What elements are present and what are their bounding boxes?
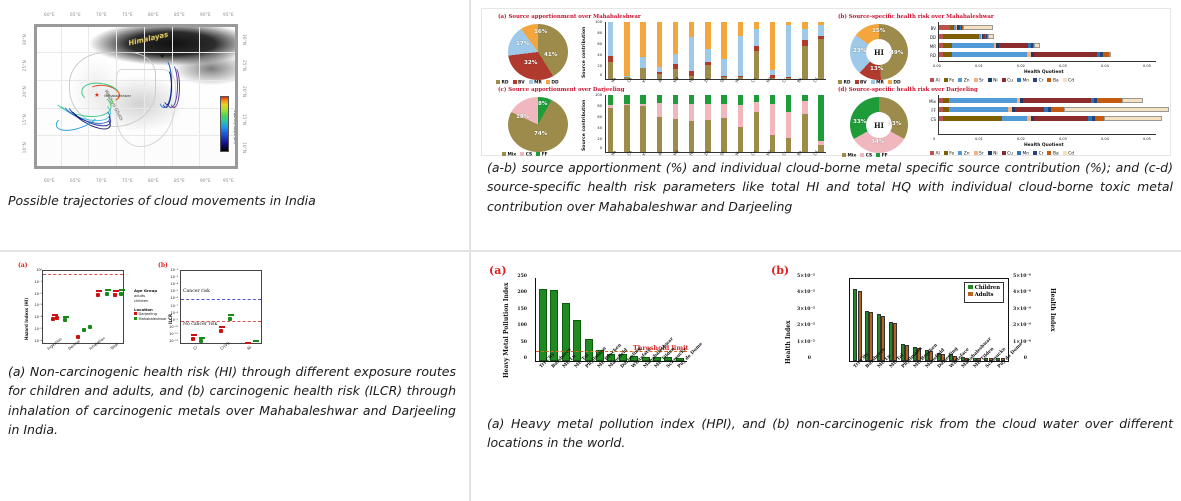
map-lat-left-25: 25°N — [22, 60, 27, 71]
map-lon-bot-80: 80°E — [148, 178, 159, 183]
ytick: 10⁰ — [28, 268, 42, 272]
stack-segment — [786, 95, 791, 112]
stack-segment — [786, 138, 791, 152]
metal-xtick: Ba — [796, 150, 803, 157]
hq-legend-item: Cr — [1033, 78, 1043, 84]
hpi-panel-b-ylabel-right: Health Index — [1049, 288, 1056, 364]
stack-segment — [721, 22, 726, 59]
pie-c-val-ff: 8% — [538, 101, 548, 107]
ytick: 200 — [513, 290, 527, 295]
hq-xtick: 0.01 — [975, 64, 983, 68]
stack-segment — [738, 22, 743, 36]
stack-segment — [738, 36, 743, 76]
donut-d-val-mix: 33% — [888, 121, 901, 127]
metal-xtick: Fe — [688, 150, 694, 156]
xtick: Ni — [246, 345, 252, 351]
hi-bar — [869, 312, 873, 361]
panel-c-bars — [608, 95, 824, 152]
stack-segment — [657, 117, 662, 152]
panel-c-pie: 74% 18% 8% — [508, 97, 568, 152]
ytick: 10⁻³ — [164, 275, 178, 279]
map-lon-bot-95: 95°E — [223, 178, 234, 183]
panel-a-legend: RD BV MR DD — [496, 80, 559, 86]
panel-a-ytick-20: 20 — [590, 64, 602, 68]
stack-segment — [624, 22, 629, 76]
hq-xtick: 0.04 — [1101, 137, 1109, 141]
hq-xtick: 0.04 — [1101, 64, 1109, 68]
hq-legend-item: Cr — [1033, 151, 1043, 157]
hq-legend-item: Zn — [958, 78, 969, 84]
lgd-a-mr: MR — [534, 81, 542, 86]
pie-c-val-cs: 18% — [516, 114, 529, 120]
panel-b-legend: RD BV MR DD — [838, 80, 901, 86]
stack-segment — [770, 22, 775, 70]
lgd-a-bv: BV — [518, 81, 525, 86]
ytick: 10⁻⁹ — [164, 318, 178, 322]
panel-b-metal-legend: AlFeZnSrNiCuMnCrBaCd — [930, 78, 1160, 84]
ytick: 10⁻⁶ — [28, 339, 42, 343]
panel-c-legend: Mix CS FF — [502, 152, 548, 158]
stack-segment — [673, 95, 678, 104]
panel-b-hq-plot: BVDDMRRD 0.000.010.020.030.040.05 Health… — [920, 22, 1160, 80]
ytick: 5×10⁻² — [797, 274, 811, 279]
lgd-b-mr: MR — [876, 81, 884, 86]
panel-c-ytick-60: 60 — [590, 115, 602, 119]
hq-legend-item: Cd — [1063, 78, 1074, 84]
hq-row-label: RD — [920, 53, 936, 58]
stack-segment — [754, 51, 759, 80]
stacked-bar — [818, 95, 823, 152]
ytick: 10⁻⁵ — [28, 327, 42, 331]
lgd-c-cs: CS — [526, 153, 532, 158]
metal-xtick: Ni — [734, 78, 740, 84]
ytick: 10⁻⁴ — [164, 282, 178, 286]
hq-legend-item: Mn — [1017, 78, 1029, 84]
ytick: 0 — [1013, 356, 1027, 361]
lgd-d-cs: CS — [866, 154, 872, 159]
stack-segment — [705, 22, 710, 49]
stacked-bar — [754, 95, 759, 152]
ytick: 50 — [513, 340, 527, 345]
panel-a-title: (a) Source apportionment over Mahabalesh… — [498, 14, 641, 20]
hq-legend-item: Cu — [1002, 151, 1013, 157]
hq-xtick: 0.03 — [1059, 137, 1067, 141]
lgd-b-bv: BV — [860, 81, 867, 86]
stack-segment — [689, 95, 694, 104]
hq-legend-item: Fe — [944, 78, 955, 84]
map-lon-bot-75: 75°E — [122, 178, 133, 183]
metal-xtick: Na — [610, 76, 617, 83]
map-lon-top-70: 70°E — [96, 12, 107, 17]
risk-panel-a-tag: (a) — [18, 262, 28, 269]
caption-health-risk: (a) Non-carcinogenic health risk (HI) th… — [8, 362, 456, 440]
panel-c-title: (c) Source apportionment over Darjeeling — [498, 87, 625, 93]
pie-a-val-dd: 16% — [534, 29, 547, 35]
metal-xtick: Al — [657, 78, 663, 84]
cell-source-apportionment: (a) Source apportionment over Mahabalesh… — [470, 0, 1181, 251]
panel-c-ytick-0: 0 — [590, 146, 602, 150]
caption-hpi: (a) Heavy metal pollution index (HPI), a… — [487, 414, 1173, 453]
stacked-bar — [786, 22, 791, 79]
stacked-bar — [624, 22, 629, 79]
metal-xtick: Cd — [812, 77, 819, 84]
risk-legend-location-title: Location — [134, 307, 153, 312]
stack-segment — [673, 104, 678, 119]
hq-xtick: 0.05 — [1143, 137, 1151, 141]
risk-legend-darjeeling: Darjeeling — [139, 312, 157, 316]
hq-row-label: MR — [920, 44, 936, 49]
stack-segment — [657, 22, 662, 66]
stack-segment — [818, 39, 823, 79]
stacked-bar — [705, 95, 710, 152]
map-lat-left-30: 30°N — [22, 34, 27, 45]
stack-segment — [802, 46, 807, 79]
panel-c-ytick-20: 20 — [590, 137, 602, 141]
pie-a-val-rd: 41% — [544, 52, 557, 58]
stacked-bar — [818, 22, 823, 79]
stack-segment — [721, 95, 726, 104]
stack-segment — [673, 54, 678, 64]
lgd-a-dd: DD — [551, 81, 558, 86]
panel-d-hq-plot: MixFFCS 00.010.020.030.040.05 Health Quo… — [920, 95, 1160, 153]
hq-legend-item: Fe — [944, 151, 955, 157]
source-apportionment-figure: (a) Source apportionment over Mahabalesh… — [481, 8, 1171, 156]
metal-xtick: K — [641, 152, 647, 157]
stacked-bar — [673, 22, 678, 79]
panel-a-ytick-80: 80 — [590, 31, 602, 35]
stack-segment — [673, 22, 678, 54]
stacked-bar — [657, 22, 662, 79]
risk-note-cancer: Cancer risk — [183, 289, 210, 294]
hpi-panel-a-ylabel: Heavy Metal Pollution Index — [503, 274, 510, 378]
risk-threshold-line-a — [43, 274, 123, 275]
ytick: 4×10⁻⁴ — [1013, 290, 1027, 295]
hq-legend-item: Cu — [1002, 78, 1013, 84]
panel-d-legend: Mix CS FF — [842, 153, 888, 159]
hq-legend-item: Ni — [988, 78, 998, 84]
map-lat-right-10: 10°N — [242, 142, 247, 153]
lgd-c-ff: FF — [542, 153, 548, 158]
panel-a-ytick-40: 40 — [590, 53, 602, 57]
stacked-bar — [673, 95, 678, 152]
panel-b-title: (b) Source-specific health risk over Mah… — [838, 14, 994, 20]
hq-legend-item: Zn — [958, 151, 969, 157]
stack-segment — [721, 118, 726, 152]
panel-c-ytick-100: 100 — [590, 93, 602, 97]
health-risk-figure: (a) Hazard Indexs (HI) 10⁰10⁻¹10⁻²10⁻³10… — [12, 260, 464, 358]
stack-segment — [754, 95, 759, 102]
metal-xtick: Na — [610, 149, 617, 156]
stack-segment — [640, 95, 645, 104]
stacked-bar — [770, 22, 775, 79]
panel-a: (a) Source apportionment over Mahabalesh… — [490, 14, 830, 84]
hi-legend: Children Adults — [964, 282, 1004, 303]
stacked-bar — [705, 22, 710, 79]
stack-segment — [754, 22, 759, 29]
pie-a-val-mr: 17% — [516, 41, 529, 47]
map-lat-right-20: 20°N — [242, 86, 247, 97]
stacked-bar — [689, 22, 694, 79]
caption-source-apportionment: (a-b) source apportionment (%) and indiv… — [487, 158, 1173, 216]
ytick: 10⁻⁸ — [164, 311, 178, 315]
panel-d-title: (d) Source-specific health risk over Dar… — [838, 87, 978, 93]
stack-segment — [754, 112, 759, 152]
ytick: 250 — [513, 274, 527, 279]
metal-xtick: Ba — [796, 77, 803, 84]
hq-row-label: CS — [920, 117, 936, 122]
hq-legend-item: Ba — [1047, 78, 1058, 84]
ytick: 10⁻¹¹ — [164, 332, 178, 336]
donut-b-val-mr: 23% — [853, 48, 866, 54]
ytick: 0 — [513, 356, 527, 361]
stacked-bar — [802, 22, 807, 79]
lgd-b-dd: DD — [893, 81, 900, 86]
metal-xtick: Zn — [703, 77, 710, 84]
ytick: 10⁻⁵ — [164, 289, 178, 293]
stack-segment — [689, 37, 694, 71]
risk-legend-mahabaleshwar: Mahabaleshwar — [139, 317, 167, 321]
trajectory-height-colorbar — [220, 96, 229, 152]
hq-row-label: FF — [920, 108, 936, 113]
panel-a-bars — [608, 22, 824, 79]
panel-c-ylabel: Source contribution — [582, 97, 587, 151]
risk-cancer-line — [181, 299, 261, 300]
stack-segment — [721, 104, 726, 118]
ytick: 10⁻¹ — [28, 280, 42, 284]
ytick: 4×10⁻² — [797, 290, 811, 295]
stacked-bar — [608, 22, 613, 79]
risk-legend-adults: adults — [134, 294, 145, 298]
metal-xtick: Sr — [719, 77, 725, 83]
hi-legend-children: Children — [975, 285, 1000, 291]
metal-xtick: Zn — [703, 150, 710, 157]
ytick: 10⁻³ — [28, 303, 42, 307]
hq-legend-item: Al — [930, 78, 940, 84]
risk-panel-b-axes: Cancer risk No cancer risk — [180, 270, 262, 344]
stack-segment — [802, 22, 807, 29]
stack-segment — [705, 49, 710, 62]
map-lon-top-95: 95°E — [223, 12, 234, 17]
metal-xtick: Al — [657, 151, 663, 157]
hq-xtick: 0.02 — [1017, 64, 1025, 68]
metal-xtick: Cu — [750, 77, 757, 84]
stack-segment — [689, 121, 694, 152]
hq-xtick: 0.02 — [1017, 137, 1025, 141]
map-lon-top-60: 60°E — [44, 12, 55, 17]
stack-segment — [608, 22, 613, 56]
stack-segment — [754, 102, 759, 112]
panel-b-donut-center: HI — [866, 39, 892, 65]
map-lon-top-90: 90°E — [200, 12, 211, 17]
hq-legend-item: Cd — [1063, 151, 1074, 157]
metal-xtick: Ca — [626, 150, 633, 157]
risk-note-nocancer: No cancer risk — [183, 322, 217, 327]
ytick: 3×10⁻⁴ — [1013, 307, 1027, 312]
map-lat-right-30: 30°N — [242, 34, 247, 45]
hq-legend-item: Ni — [988, 151, 998, 157]
pie-a-val-bv: 32% — [524, 60, 537, 66]
stack-segment — [640, 22, 645, 57]
risk-legend: Age Group adults children Location Darje… — [134, 288, 167, 322]
ytick: 10⁻⁴ — [28, 315, 42, 319]
stacked-bar — [721, 22, 726, 79]
ytick: 150 — [513, 307, 527, 312]
donut-d-val-cs: 34% — [871, 139, 884, 145]
stacked-bar — [640, 95, 645, 152]
map-lon-top-80: 80°E — [148, 12, 159, 17]
metal-xtick: Sr — [719, 150, 725, 156]
site-label-mahabaleshwar: Mahabaleshwar — [104, 94, 131, 98]
hi-bar — [893, 323, 897, 361]
metal-xtick: Cd — [812, 150, 819, 157]
risk-legend-agegroup-title: Age Group — [134, 288, 157, 293]
hi-bar — [858, 291, 862, 361]
hq-xtick: 0.05 — [1143, 64, 1151, 68]
map-lat-right-25: 25°N — [242, 60, 247, 71]
map-lat-left-20: 20°N — [22, 86, 27, 97]
ytick: 10⁻² — [164, 268, 178, 272]
map-lon-bot-70: 70°E — [96, 178, 107, 183]
stacked-bar — [608, 95, 613, 152]
stack-segment — [818, 25, 823, 35]
panel-a-stackplot: Source contribution 100 80 60 40 20 0 Na… — [586, 22, 826, 80]
ytick: 3×10⁻² — [797, 307, 811, 312]
risk-panel-a-axes — [42, 270, 124, 344]
stack-segment — [673, 119, 678, 152]
metal-xtick: Cr — [781, 150, 787, 156]
hi-legend-adults: Adults — [975, 292, 994, 298]
hq-legend-item: Sr — [974, 151, 984, 157]
stack-segment — [705, 104, 710, 120]
ytick: 10⁻⁷ — [164, 304, 178, 308]
lgd-b-rd: RD — [844, 81, 851, 86]
pie-c-val-mix: 74% — [534, 131, 547, 137]
hq-legend-item: Ba — [1047, 151, 1058, 157]
risk-legend-children: children — [134, 299, 148, 303]
stack-segment — [786, 25, 791, 76]
ytick: 100 — [513, 323, 527, 328]
map-lat-right-15: 15°N — [242, 114, 247, 125]
ytick: 10⁻⁶ — [164, 296, 178, 300]
hq-xtick: 0 — [933, 137, 935, 141]
panel-c-ytick-40: 40 — [590, 126, 602, 130]
stack-segment — [818, 145, 823, 152]
hq-xtick: 0.01 — [975, 137, 983, 141]
stacked-bar — [802, 95, 807, 152]
ytick: 10⁻¹⁰ — [164, 325, 178, 329]
stack-segment — [640, 106, 645, 152]
hi-bar — [853, 289, 857, 361]
stack-segment — [818, 95, 823, 141]
stacked-bar — [786, 95, 791, 152]
map-lon-top-85: 85°E — [174, 12, 185, 17]
panel-d-metal-legend: AlFeZnSrNiCuMnCrBaCd — [930, 151, 1160, 157]
panel-d-donut: HI 33% 34% 33% — [850, 97, 908, 153]
metal-xtick: K — [641, 79, 647, 84]
stack-segment — [721, 59, 726, 76]
stacked-bar — [721, 95, 726, 152]
caption-trajectory: Possible trajectories of cloud movements… — [8, 191, 456, 210]
stack-segment — [770, 104, 775, 135]
trajectory-map-figure: 60°E 65°E 70°E 75°E 80°E 85°E 90°E 95°E … — [20, 10, 246, 185]
stacked-bar — [657, 95, 662, 152]
stack-segment — [608, 108, 613, 152]
metal-xtick: Cr — [781, 77, 787, 83]
panel-b: (b) Source-specific health risk over Mah… — [834, 14, 1170, 84]
map-lon-bot-65: 65°E — [70, 178, 81, 183]
ytick: 2×10⁻² — [797, 323, 811, 328]
donut-b-val-rd: 49% — [890, 50, 903, 56]
figure-grid: 60°E 65°E 70°E 75°E 80°E 85°E 90°E 95°E … — [0, 0, 1181, 501]
ytick: 10⁻¹² — [164, 339, 178, 343]
panel-c: (c) Source apportionment over Darjeeling… — [490, 87, 830, 157]
hpi-figure: (a) Heavy Metal Pollution Index 25020015… — [481, 260, 1171, 410]
cell-trajectory-map: 60°E 65°E 70°E 75°E 80°E 85°E 90°E 95°E … — [0, 0, 470, 251]
map-lon-bot-85: 85°E — [174, 178, 185, 183]
lgd-d-mix: Mix — [848, 154, 857, 159]
metal-xtick: Mn — [765, 76, 772, 83]
stacked-bar — [738, 22, 743, 79]
hq-row-label: BV — [920, 26, 936, 31]
metal-xtick: Ca — [626, 77, 633, 84]
hi-bar-group — [853, 289, 862, 361]
panel-a-ylabel: Source contribution — [582, 24, 587, 78]
panel-a-ytick-60: 60 — [590, 42, 602, 46]
xtick: Cr — [192, 344, 198, 351]
stack-segment — [624, 105, 629, 152]
metal-xtick: Mg — [672, 149, 679, 156]
stack-segment — [705, 120, 710, 152]
hq-xtick: 0.00 — [933, 64, 941, 68]
map-lat-left-10: 10°N — [22, 142, 27, 153]
stacked-bar — [624, 95, 629, 152]
map-lon-bot-90: 90°E — [200, 178, 211, 183]
stack-segment — [608, 95, 613, 105]
metal-xtick: Mn — [765, 149, 772, 156]
panel-a-ytick-0: 0 — [590, 73, 602, 77]
stacked-bar — [754, 22, 759, 79]
stack-segment — [786, 112, 791, 138]
metal-xtick: Mg — [672, 76, 679, 83]
stack-segment — [738, 95, 743, 105]
panel-a-pie: 41% 32% 17% 16% — [508, 24, 568, 80]
map-lon-top-75: 75°E — [122, 12, 133, 17]
stack-segment — [738, 127, 743, 152]
panel-d-xlabel: Health Quotient — [1024, 143, 1064, 148]
stack-segment — [657, 95, 662, 103]
hq-legend-item: Al — [930, 151, 940, 157]
hq-row-label: DD — [920, 35, 936, 40]
map-lon-bot-60: 60°E — [44, 178, 55, 183]
ytick: 10⁻² — [28, 292, 42, 296]
hpi-panel-b-ylabel-left: Health Index — [785, 288, 792, 364]
stack-segment — [624, 95, 629, 104]
cell-health-risk: (a) Hazard Indexs (HI) 10⁰10⁻¹10⁻²10⁻³10… — [0, 251, 470, 501]
panel-c-stackplot: Source contribution 100 80 60 40 20 0 Na… — [586, 95, 826, 153]
donut-d-val-ff: 33% — [853, 119, 866, 125]
lgd-a-rd: RD — [502, 81, 509, 86]
panel-b-donut: HI 49% 13% 23% 15% — [850, 24, 908, 80]
stack-segment — [640, 68, 645, 79]
stack-segment — [705, 95, 710, 104]
stack-segment — [738, 105, 743, 127]
stack-segment — [689, 104, 694, 121]
hpi-panel-b-tag: (b) — [771, 264, 789, 277]
metal-xtick: Fe — [688, 77, 694, 83]
ytick: 2×10⁻⁴ — [1013, 323, 1027, 328]
map-plot-frame: Himalayas Western Ghats — [34, 24, 238, 169]
stack-segment — [770, 95, 775, 104]
